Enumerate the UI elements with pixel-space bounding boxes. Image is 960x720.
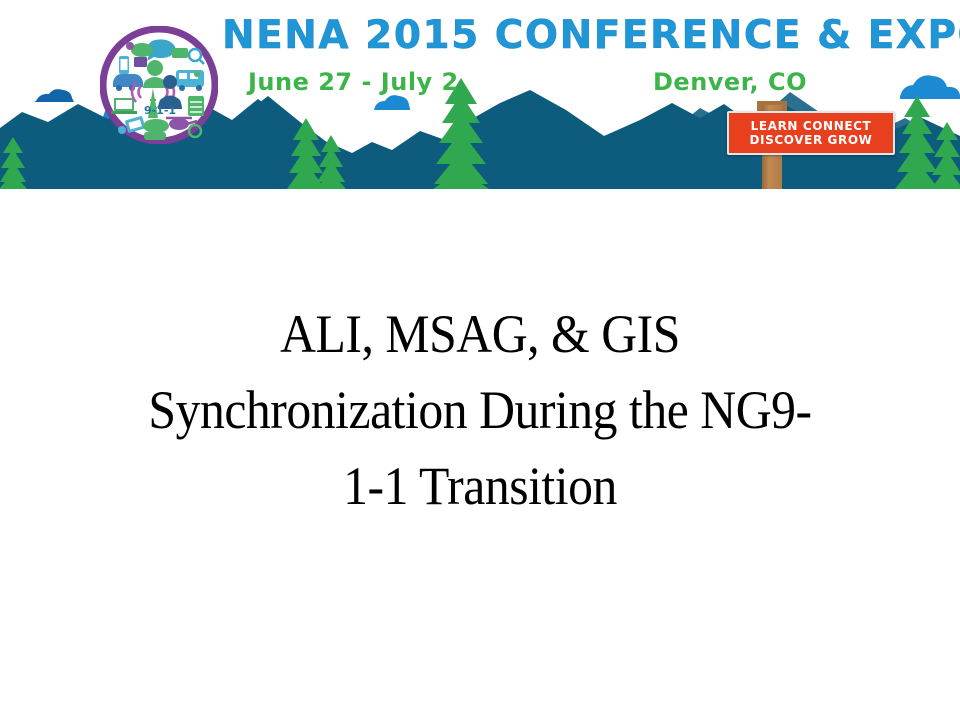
slide-title-line-2: Synchronization During the NG9- xyxy=(38,372,921,448)
sign-line-2: DISCOVER GROW xyxy=(750,133,873,147)
sign-line-1: LEARN CONNECT xyxy=(751,119,872,133)
conference-banner: 9-1-1 xyxy=(0,0,960,189)
svg-text:9-1-1: 9-1-1 xyxy=(144,104,176,117)
slide-title-line-1: ALI, MSAG, & GIS xyxy=(38,296,921,372)
slide-title: ALI, MSAG, & GIS Synchronization During … xyxy=(0,296,960,524)
slide-title-line-3: 1-1 Transition xyxy=(38,448,921,524)
learn-connect-road-sign: LEARN CONNECT DISCOVER GROW xyxy=(727,99,895,189)
nena-logo-icon: 9-1-1 xyxy=(100,26,218,144)
sign-board: LEARN CONNECT DISCOVER GROW xyxy=(727,111,895,155)
slide-canvas: 9-1-1 xyxy=(0,0,960,720)
